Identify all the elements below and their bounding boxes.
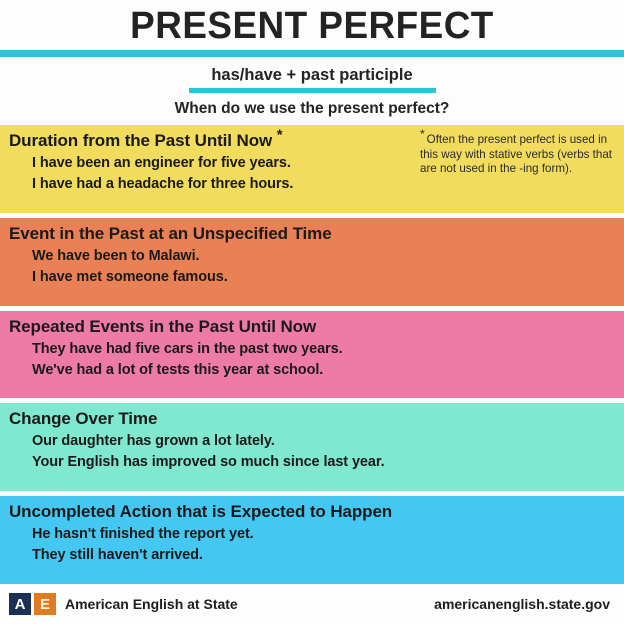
header-divider — [0, 50, 624, 57]
band-heading-text: Event in the Past at an Unspecified Time — [9, 224, 332, 243]
footnote-text: Often the present perfect is used in thi… — [420, 133, 612, 175]
formula-text: has/have + past participle — [211, 66, 412, 85]
page-title: PRESENT PERFECT — [9, 4, 614, 48]
usage-band: Uncompleted Action that is Expected to H… — [0, 496, 624, 584]
infographic-poster: PRESENT PERFECT has/have + past particip… — [0, 0, 624, 624]
band-heading-text: Uncompleted Action that is Expected to H… — [9, 502, 392, 521]
usage-band: Duration from the Past Until Now *I have… — [0, 125, 624, 213]
usage-band: Repeated Events in the Past Until NowThe… — [0, 311, 624, 399]
example-list: We have been to Malawi.I have met someon… — [0, 245, 624, 288]
example-sentence: I have met someone famous. — [32, 267, 624, 288]
footnote-marker-icon: * — [420, 127, 425, 141]
brand-name: American English at State — [65, 596, 238, 612]
footnote: *Often the present perfect is used in th… — [420, 133, 616, 177]
example-sentence: They still haven't arrived. — [32, 545, 624, 566]
band-heading: Repeated Events in the Past Until Now — [0, 316, 624, 338]
band-heading-text: Duration from the Past Until Now — [9, 131, 272, 150]
band-heading: Duration from the Past Until Now * — [0, 130, 419, 152]
american-english-logo: A E — [9, 593, 56, 615]
usage-band: Change Over TimeOur daughter has grown a… — [0, 403, 624, 491]
example-list: He hasn't finished the report yet.They s… — [0, 523, 624, 566]
logo-letter-a-icon: A — [9, 593, 31, 615]
band-heading-text: Change Over Time — [9, 409, 157, 428]
band-heading-text: Repeated Events in the Past Until Now — [9, 317, 316, 336]
example-sentence: I have had a headache for three hours. — [32, 174, 442, 195]
example-list: I have been an engineer for five years.I… — [0, 152, 442, 195]
example-list: They have had five cars in the past two … — [0, 338, 624, 381]
example-sentence: He hasn't finished the report yet. — [32, 524, 624, 545]
usage-sections: Duration from the Past Until Now *I have… — [0, 118, 624, 584]
logo-letter-e-icon: E — [34, 593, 56, 615]
website-url: americanenglish.state.gov — [434, 596, 614, 612]
example-sentence: We've had a lot of tests this year at sc… — [32, 360, 624, 381]
poster-footer: A E American English at State americanen… — [0, 584, 624, 624]
poster-header: PRESENT PERFECT has/have + past particip… — [0, 0, 624, 118]
example-sentence: They have had five cars in the past two … — [32, 339, 624, 360]
example-sentence: Your English has improved so much since … — [32, 452, 624, 473]
section-question: When do we use the present perfect? — [0, 93, 624, 118]
example-sentence: We have been to Malawi. — [32, 246, 624, 267]
footnote-marker: * — [277, 126, 283, 143]
example-sentence: I have been an engineer for five years. — [32, 153, 442, 174]
usage-band: Event in the Past at an Unspecified Time… — [0, 218, 624, 306]
band-heading: Change Over Time — [0, 408, 624, 430]
band-heading: Uncompleted Action that is Expected to H… — [0, 501, 624, 523]
band-heading: Event in the Past at an Unspecified Time — [0, 223, 624, 245]
example-sentence: Our daughter has grown a lot lately. — [32, 431, 624, 452]
formula-block: has/have + past participle — [0, 57, 624, 93]
example-list: Our daughter has grown a lot lately.Your… — [0, 430, 624, 473]
